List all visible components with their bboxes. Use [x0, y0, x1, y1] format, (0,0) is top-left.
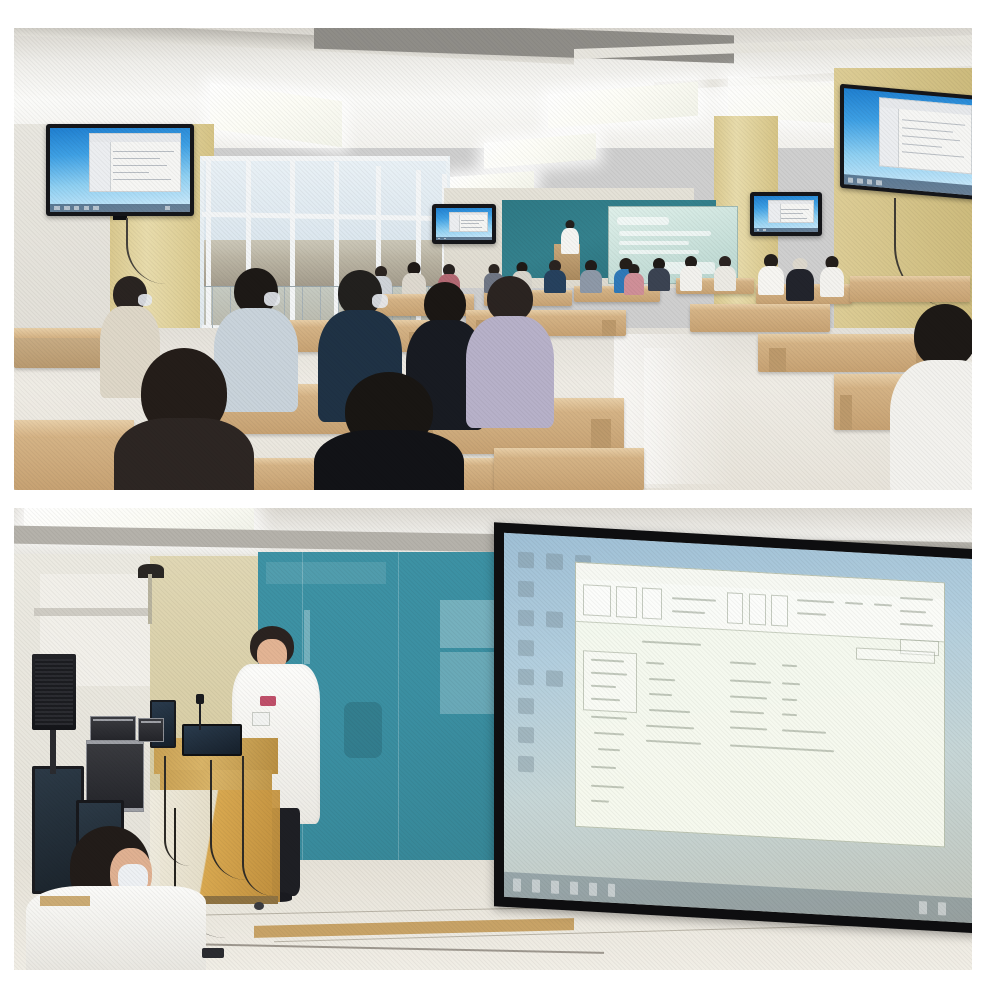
tv-screen-content: [754, 196, 818, 232]
cable-run: [242, 756, 274, 896]
desk-edge-foreground: [40, 896, 90, 906]
audience-member: [624, 264, 644, 294]
tv-taskbar: [436, 237, 492, 240]
tv-monitor-mid-left[interactable]: [432, 204, 496, 244]
projected-windows-desktop: [504, 533, 972, 923]
photo-bottom-presenter: [14, 508, 972, 970]
tv-monitor-left[interactable]: [46, 124, 194, 216]
audience-member: [786, 258, 814, 300]
microphone-head: [196, 694, 204, 704]
audience-member: [648, 258, 670, 290]
podium-laptop[interactable]: [182, 724, 242, 756]
audience-member-foreground-right: [890, 304, 972, 490]
tv-taskbar: [754, 228, 818, 232]
photo-top-lecture-hall: [14, 28, 972, 490]
speaker-stand-pole: [50, 730, 56, 774]
desk-row: [14, 328, 110, 368]
av-rack-case-small: [138, 718, 164, 742]
tv-app-window: [449, 212, 488, 233]
tv-taskbar: [50, 204, 190, 212]
tv-app-window: [768, 200, 814, 223]
audience-member: [820, 256, 844, 296]
tv-screen-content: [844, 88, 972, 196]
audience-member-foreground-center: [314, 372, 464, 490]
audience-member: [758, 254, 784, 294]
light-fixture-pole: [148, 574, 152, 624]
floor-reflection: [644, 348, 684, 488]
presenter-top-photo: [560, 220, 580, 254]
av-rack-case-top: [90, 716, 136, 742]
audience-member-foreground-left: [114, 348, 254, 490]
projection-screen-surface: [504, 533, 972, 923]
audience-member: [680, 256, 702, 290]
mobile-phone-on-desk: [202, 948, 224, 958]
tv-app-window: [879, 97, 972, 174]
photo-collage-page: [0, 0, 1000, 1000]
tv-app-window: [89, 133, 181, 192]
tv-monitor-mid-right[interactable]: [750, 192, 822, 236]
tv-monitor-right[interactable]: [840, 84, 972, 200]
presenter-id-badge: [252, 712, 270, 726]
window-mullion: [202, 156, 448, 161]
audience-member: [714, 256, 736, 290]
presenter-chest-logo: [260, 696, 276, 706]
microphone-stem: [199, 704, 201, 730]
desk-row: [850, 276, 970, 302]
projected-application-window: [575, 562, 945, 847]
audience-member: [580, 260, 602, 292]
audience-member-lavender: [466, 276, 554, 426]
projection-screen-frame: [494, 522, 972, 934]
tv-screen-content: [50, 128, 190, 212]
tv-screen-content: [436, 208, 492, 240]
pa-speaker: [32, 654, 76, 730]
desk-row-front: [494, 448, 644, 490]
podium-caster: [254, 902, 264, 910]
desk-row: [690, 304, 830, 332]
